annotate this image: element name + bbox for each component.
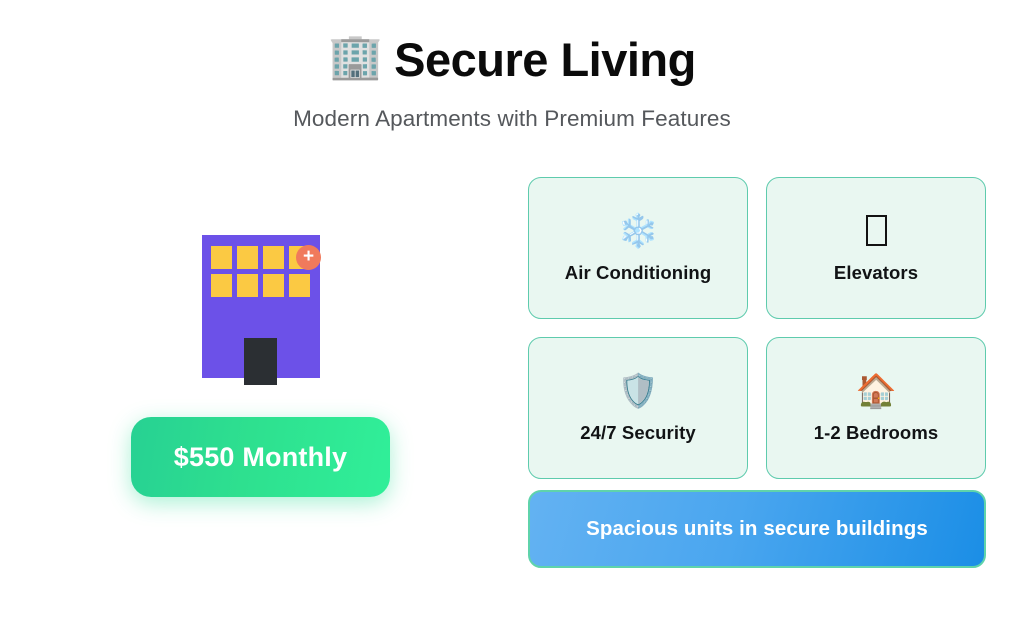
snowflake-icon: ❄️ [617, 212, 658, 248]
building-window [237, 246, 258, 269]
feature-label: Air Conditioning [565, 262, 711, 284]
feature-grid: ❄️ Air Conditioning Elevators 🛡️ 24/7 Se… [528, 177, 986, 479]
feature-card-elevators[interactable]: Elevators [766, 177, 986, 319]
building-window [263, 246, 284, 269]
building-window [289, 274, 310, 297]
page-header: 🏢 Secure Living Modern Apartments with P… [0, 28, 1024, 132]
feature-card-bedrooms[interactable]: 🏠 1-2 Bedrooms [766, 337, 986, 479]
office-building-icon: 🏢 [328, 35, 376, 83]
tagline-banner[interactable]: Spacious units in secure buildings [528, 490, 986, 568]
plus-badge-icon[interactable]: + [296, 245, 321, 270]
building-window [211, 246, 232, 269]
feature-label: Elevators [834, 262, 918, 284]
building-window [263, 274, 284, 297]
feature-label: 1-2 Bedrooms [814, 422, 939, 444]
building-window [211, 274, 232, 297]
feature-label: 24/7 Security [580, 422, 695, 444]
building-window [237, 274, 258, 297]
shield-icon: 🛡️ [617, 372, 658, 408]
elevator-icon [866, 212, 887, 248]
house-icon: 🏠 [855, 372, 896, 408]
title-row: 🏢 Secure Living [0, 28, 1024, 90]
building-door [244, 338, 277, 385]
page-root: 🏢 Secure Living Modern Apartments with P… [0, 0, 1024, 618]
feature-card-security[interactable]: 🛡️ 24/7 Security [528, 337, 748, 479]
apartment-building-illustration: + [131, 218, 391, 388]
feature-card-air-conditioning[interactable]: ❄️ Air Conditioning [528, 177, 748, 319]
page-subtitle: Modern Apartments with Premium Features [0, 106, 1024, 132]
price-badge[interactable]: $550 Monthly [131, 417, 390, 497]
page-title: Secure Living [394, 36, 696, 83]
